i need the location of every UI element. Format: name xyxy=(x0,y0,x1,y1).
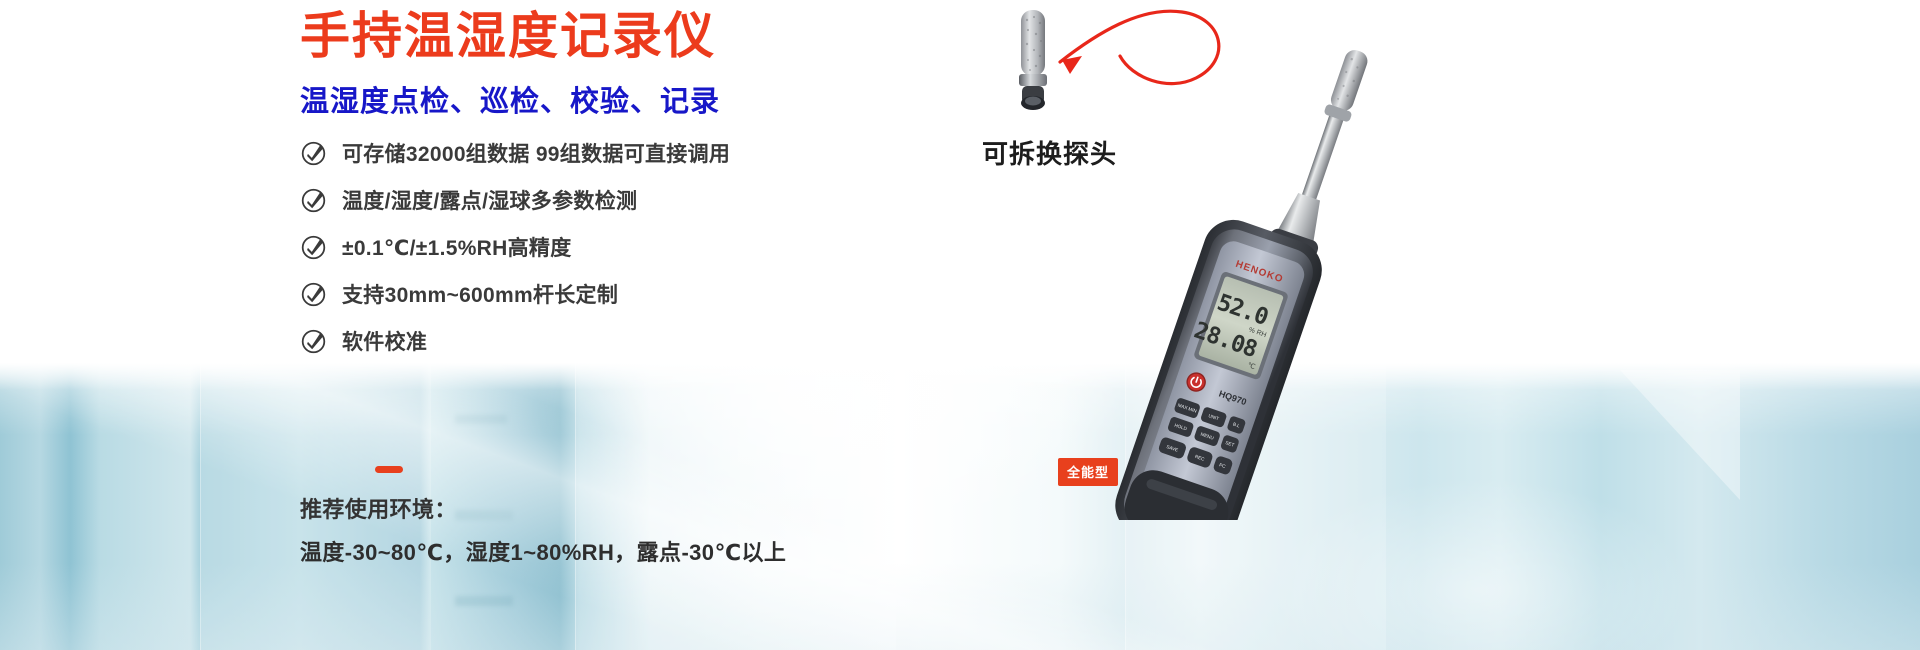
check-circle-icon xyxy=(300,281,327,308)
device-image: HENOKO 52.0 % RH 28.08 ℃ HQ970 xyxy=(930,0,1450,520)
check-circle-icon xyxy=(300,140,327,167)
rec-divider-dash xyxy=(375,466,403,473)
feature-label: 可存储32000组数据 99组数据可直接调用 xyxy=(342,138,730,168)
recommend-detail: 温度-30~80℃，湿度1~80%RH，露点-30℃以上 xyxy=(300,535,786,567)
check-circle-icon xyxy=(300,187,327,214)
product-banner: 手持温湿度记录仪 温湿度点检、巡检、校验、记录 可存储32000组数据 99组数… xyxy=(0,0,1920,650)
recommend-heading: 推荐使用环境： xyxy=(300,492,457,524)
check-circle-icon xyxy=(300,234,327,261)
page-title: 手持温湿度记录仪 xyxy=(300,8,716,66)
feature-label: 温度/湿度/露点/湿球多参数检测 xyxy=(342,185,637,215)
feature-label: 软件校准 xyxy=(342,326,427,356)
feature-label: ±0.1℃/±1.5%RH高精度 xyxy=(342,232,572,262)
page-subtitle: 温湿度点检、巡检、校验、记录 xyxy=(300,78,720,120)
feature-label: 支持30mm~600mm杆长定制 xyxy=(342,279,618,309)
check-circle-icon xyxy=(300,328,327,355)
